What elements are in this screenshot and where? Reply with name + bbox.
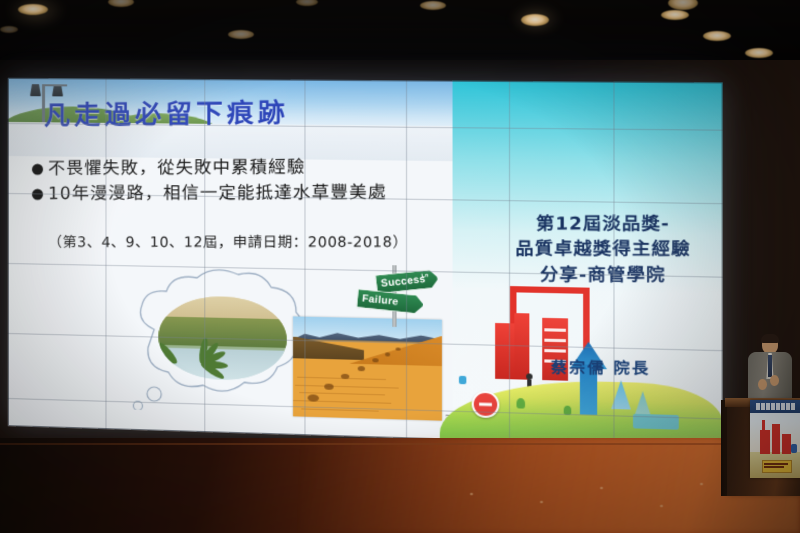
auditorium-scene: 凡走過必留下痕跡 不畏懼失敗，從失敗中累積經驗 10年漫漫路，相信一定能抵達水草…	[0, 0, 800, 533]
ceiling-light	[18, 4, 48, 15]
sign-failure: Failure	[356, 288, 425, 315]
sign-success: Success Ln	[375, 269, 440, 295]
led-video-wall: 凡走過必留下痕跡 不畏懼失敗，從失敗中累積經驗 10年漫漫路，相信一定能抵達水草…	[8, 78, 723, 448]
banner-title-text	[751, 402, 799, 412]
ceiling-light	[521, 14, 549, 26]
lamp-head-icon	[30, 84, 41, 96]
headline-line: 第12屆淡品獎-	[474, 213, 723, 238]
bullet-dot-icon	[32, 189, 43, 200]
headline-line: 品質卓越獎得主經驗	[474, 238, 723, 263]
list-item: 10年漫漫路，相信一定能抵達水草豐美處	[32, 181, 465, 206]
speaker-name: 蔡宗儒 院長	[493, 356, 709, 380]
sign-failure-label: Failure	[361, 293, 399, 308]
bullet-text: 不畏懼失敗，從失敗中累積經驗	[48, 156, 305, 181]
banner-factory-graphic	[772, 424, 780, 454]
presenter	[744, 335, 796, 407]
presenter-hair	[761, 334, 779, 343]
bullet-dot-icon	[32, 164, 43, 175]
slide-headline: 第12屆淡品獎- 品質卓越獎得主經驗 分享-商管學院	[474, 213, 723, 290]
presenter-hand	[758, 379, 767, 390]
ceiling-light	[703, 31, 731, 41]
road-sign-group: Success Ln Failure	[352, 256, 436, 328]
presentation-slide: 凡走過必留下痕跡 不畏懼失敗，從失敗中累積經驗 10年漫漫路，相信一定能抵達水草…	[8, 78, 723, 448]
page-title: 凡走過必留下痕跡	[44, 91, 351, 132]
desert-dune-image	[293, 316, 442, 420]
footprint-icon	[341, 374, 349, 379]
banner-factory-graphic	[760, 430, 770, 454]
ceiling-light	[745, 48, 773, 58]
no-entry-sign-icon	[472, 391, 500, 419]
oasis-image	[158, 295, 287, 381]
list-item: 不畏懼失敗，從失敗中累積經驗	[32, 155, 465, 181]
ceiling-light	[296, 0, 318, 6]
ceiling-light	[661, 10, 689, 20]
banner-factory-graphic	[782, 434, 791, 454]
ceiling-light	[668, 0, 698, 10]
ceiling-light	[0, 26, 18, 33]
banner-icon	[791, 444, 797, 453]
ceiling-light	[420, 1, 446, 10]
ceiling-light	[108, 0, 134, 7]
banner-header	[750, 400, 800, 413]
conference-banner	[750, 400, 800, 478]
sign-suffix: Ln	[421, 273, 429, 280]
palm-tree-icon	[177, 330, 232, 378]
tree-icon	[564, 406, 572, 416]
sign-success-label: Success	[380, 274, 426, 290]
ceiling-light	[228, 30, 254, 39]
headline-line: 分享-商管學院	[474, 264, 723, 289]
presenter-hand	[770, 375, 779, 386]
banner-caption-box	[762, 460, 792, 473]
tree-icon	[516, 398, 525, 409]
footprint-icon	[358, 366, 365, 371]
bullet-subline: （第3、4、9、10、12屆，申請日期：2008-2018）	[48, 232, 408, 253]
panel-icon	[633, 414, 679, 430]
thought-bubble	[124, 258, 319, 415]
bullet-list: 不畏懼失敗，從失敗中累積經驗 10年漫漫路，相信一定能抵達水草豐美處	[32, 155, 465, 208]
panel-icon	[459, 376, 466, 384]
footprint-icon	[324, 383, 333, 389]
bullet-text: 10年漫漫路，相信一定能抵達水草豐美處	[48, 182, 387, 207]
stage-floor	[0, 438, 800, 533]
